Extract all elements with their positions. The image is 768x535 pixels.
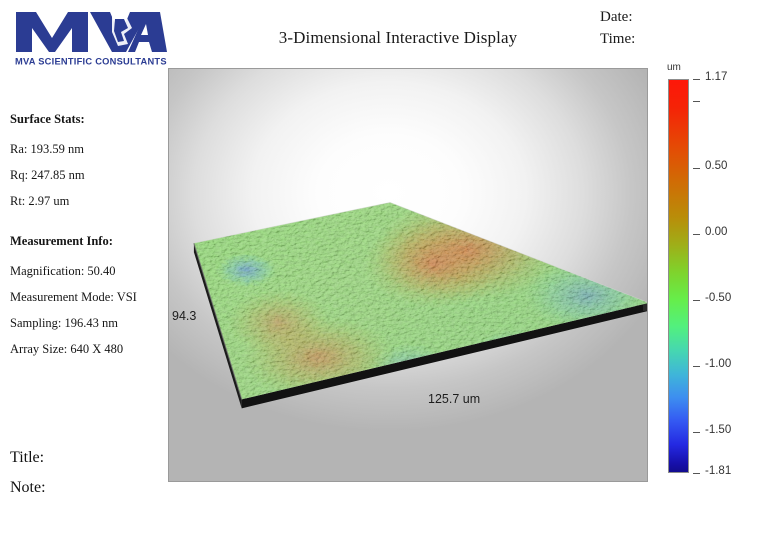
info-sampling: Sampling: 196.43 nm bbox=[10, 310, 160, 336]
colorbar-tick bbox=[693, 79, 700, 80]
measurement-info-heading: Measurement Info: bbox=[10, 234, 160, 249]
mva-logo-graphic: MVA SCIENTIFIC CONSULTANTS bbox=[8, 8, 168, 70]
stat-ra: Ra: 193.59 nm bbox=[10, 136, 160, 162]
info-panel: Surface Stats: Ra: 193.59 nm Rq: 247.85 … bbox=[10, 112, 160, 362]
colorbar-tick-label: -1.50 bbox=[705, 424, 731, 436]
logo-tagline: MVA SCIENTIFIC CONSULTANTS bbox=[15, 57, 167, 67]
colorbar-tick bbox=[693, 473, 700, 474]
colorbar-tick-label: -1.00 bbox=[705, 358, 731, 370]
page-title: 3-Dimensional Interactive Display bbox=[233, 28, 563, 48]
note-label: Note: bbox=[10, 473, 46, 503]
stat-rq: Rq: 247.85 nm bbox=[10, 162, 160, 188]
colorbar-tick bbox=[693, 168, 700, 169]
colorbar-tick-label: -0.50 bbox=[705, 292, 731, 304]
title-label: Title: bbox=[10, 443, 46, 473]
info-array-size: Array Size: 640 X 480 bbox=[10, 336, 160, 362]
colorbar-tick-label: -1.81 bbox=[705, 465, 731, 477]
panel-spacer bbox=[10, 214, 160, 234]
surface-stats-heading: Surface Stats: bbox=[10, 112, 160, 127]
colorbar-unit-label: um bbox=[667, 62, 681, 73]
colorbar-tick bbox=[693, 234, 700, 235]
date-label: Date: bbox=[600, 6, 760, 28]
colorbar-tick-label: 1.17 bbox=[705, 71, 727, 83]
topography-surface bbox=[169, 169, 647, 428]
colorbar-tick bbox=[693, 101, 700, 102]
y-axis-label: 94.3 bbox=[172, 309, 196, 323]
interactive-3d-plot[interactable]: 125.7 um bbox=[168, 68, 648, 482]
colorbar-tick bbox=[693, 432, 700, 433]
datetime-block: Date: Time: bbox=[600, 6, 760, 50]
info-magnification: Magnification: 50.40 bbox=[10, 258, 160, 284]
mva-logo: MVA SCIENTIFIC CONSULTANTS bbox=[8, 8, 168, 70]
x-axis-label: 125.7 um bbox=[428, 392, 480, 406]
footer-labels: Title: Note: bbox=[10, 443, 46, 503]
colorbar-tick-label: 0.50 bbox=[705, 160, 727, 172]
surface-plot-canvas[interactable] bbox=[169, 69, 647, 481]
colorbar-tick bbox=[693, 300, 700, 301]
time-label: Time: bbox=[600, 28, 760, 50]
info-measurement-mode: Measurement Mode: VSI bbox=[10, 284, 160, 310]
colorbar-tick-label: 0.00 bbox=[705, 226, 727, 238]
stat-rt: Rt: 2.97 um bbox=[10, 188, 160, 214]
colorbar-gradient[interactable] bbox=[668, 79, 689, 473]
colorbar-tick bbox=[693, 366, 700, 367]
